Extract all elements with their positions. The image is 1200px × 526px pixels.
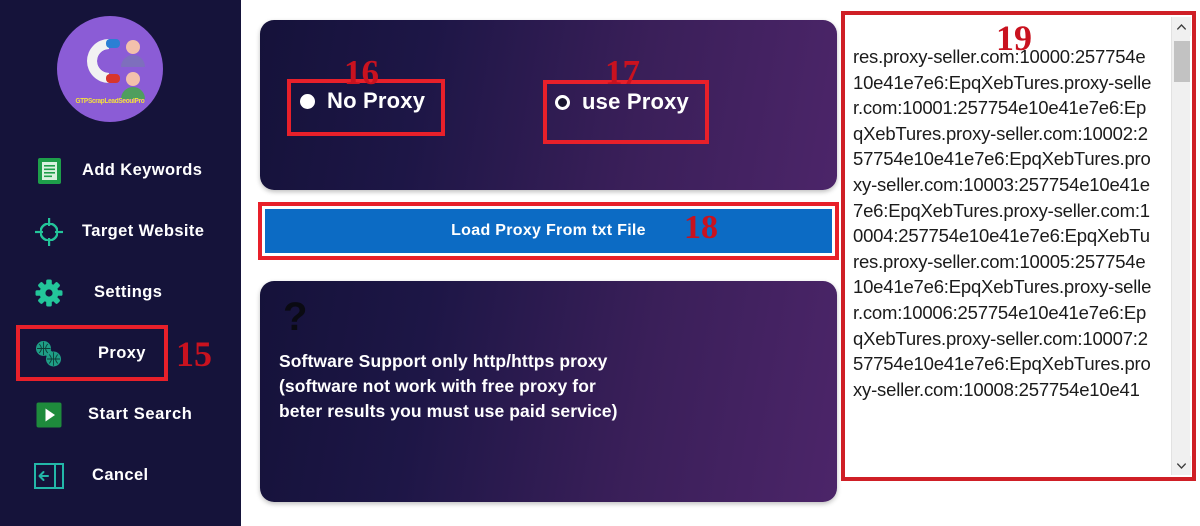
proxy-list-value: res.proxy-seller.com:10000:257754e10e41e… [853,44,1153,402]
sidebar-item-start-search[interactable]: Start Search [0,384,241,445]
proxy-list-scrollbar[interactable] [1171,17,1190,475]
play-icon [34,400,64,430]
annotation-number-15: 15 [176,336,212,372]
magnet-people-icon [57,16,163,122]
sidebar-item-cancel[interactable]: Cancel [0,445,241,506]
logo-caption: GTPScrapLeadSeoulPro [61,98,159,105]
annotation-number-17: 17 [605,55,640,90]
sidebar-item-label: Proxy [98,344,146,363]
support-info-text: Software Support only http/https proxy (… [279,349,809,424]
radio-dot-selected-icon [300,94,315,109]
radio-dot-unselected-icon [555,95,570,110]
sidebar-item-label: Settings [94,283,162,302]
proxy-list-annotation-frame: res.proxy-seller.com:10000:257754e10e41e… [841,11,1196,481]
sidebar-item-label: Add Keywords [82,161,202,180]
proxy-mode-panel: No Proxy use Proxy 16 17 [260,20,837,190]
proxy-mode-options: No Proxy use Proxy 16 17 [260,20,837,190]
gear-icon [34,278,64,308]
scrollbar-thumb[interactable] [1174,41,1190,82]
question-mark-icon: ? [283,297,307,337]
annotation-number-18: 18 [684,211,718,245]
exit-arrow-icon [34,461,64,491]
sidebar-item-target-website[interactable]: Target Website [0,201,241,262]
proxy-list-textarea[interactable]: res.proxy-seller.com:10000:257754e10e41e… [845,15,1192,477]
sidebar-item-label: Target Website [82,222,204,241]
main-content: No Proxy use Proxy 16 17 Load Proxy From… [241,0,1200,526]
scroll-down-arrow-icon[interactable] [1172,456,1191,475]
load-proxy-button[interactable]: Load Proxy From txt File [265,209,832,253]
document-keywords-icon [34,156,64,186]
scroll-up-arrow-icon[interactable] [1172,17,1191,36]
sidebar: GTPScrapLeadSeoulPro Add Keywords [0,0,241,526]
annotation-number-19: 19 [996,20,1032,56]
annotation-number-16: 16 [344,55,379,90]
load-proxy-button-annotation-frame: Load Proxy From txt File [258,202,839,260]
proxy-settings-screen: GTPScrapLeadSeoulPro Add Keywords [0,0,1200,526]
crosshair-target-icon [34,217,64,247]
sidebar-item-label: Cancel [92,466,149,485]
use-proxy-label: use Proxy [582,89,689,115]
support-info-panel: ? Software Support only http/https proxy… [260,281,837,502]
sidebar-item-add-keywords[interactable]: Add Keywords [0,140,241,201]
sidebar-item-settings[interactable]: Settings [0,262,241,323]
globe-network-icon [34,339,64,369]
sidebar-nav: Add Keywords [0,140,241,506]
app-logo: GTPScrapLeadSeoulPro [57,16,163,122]
sidebar-item-label: Start Search [88,405,192,424]
